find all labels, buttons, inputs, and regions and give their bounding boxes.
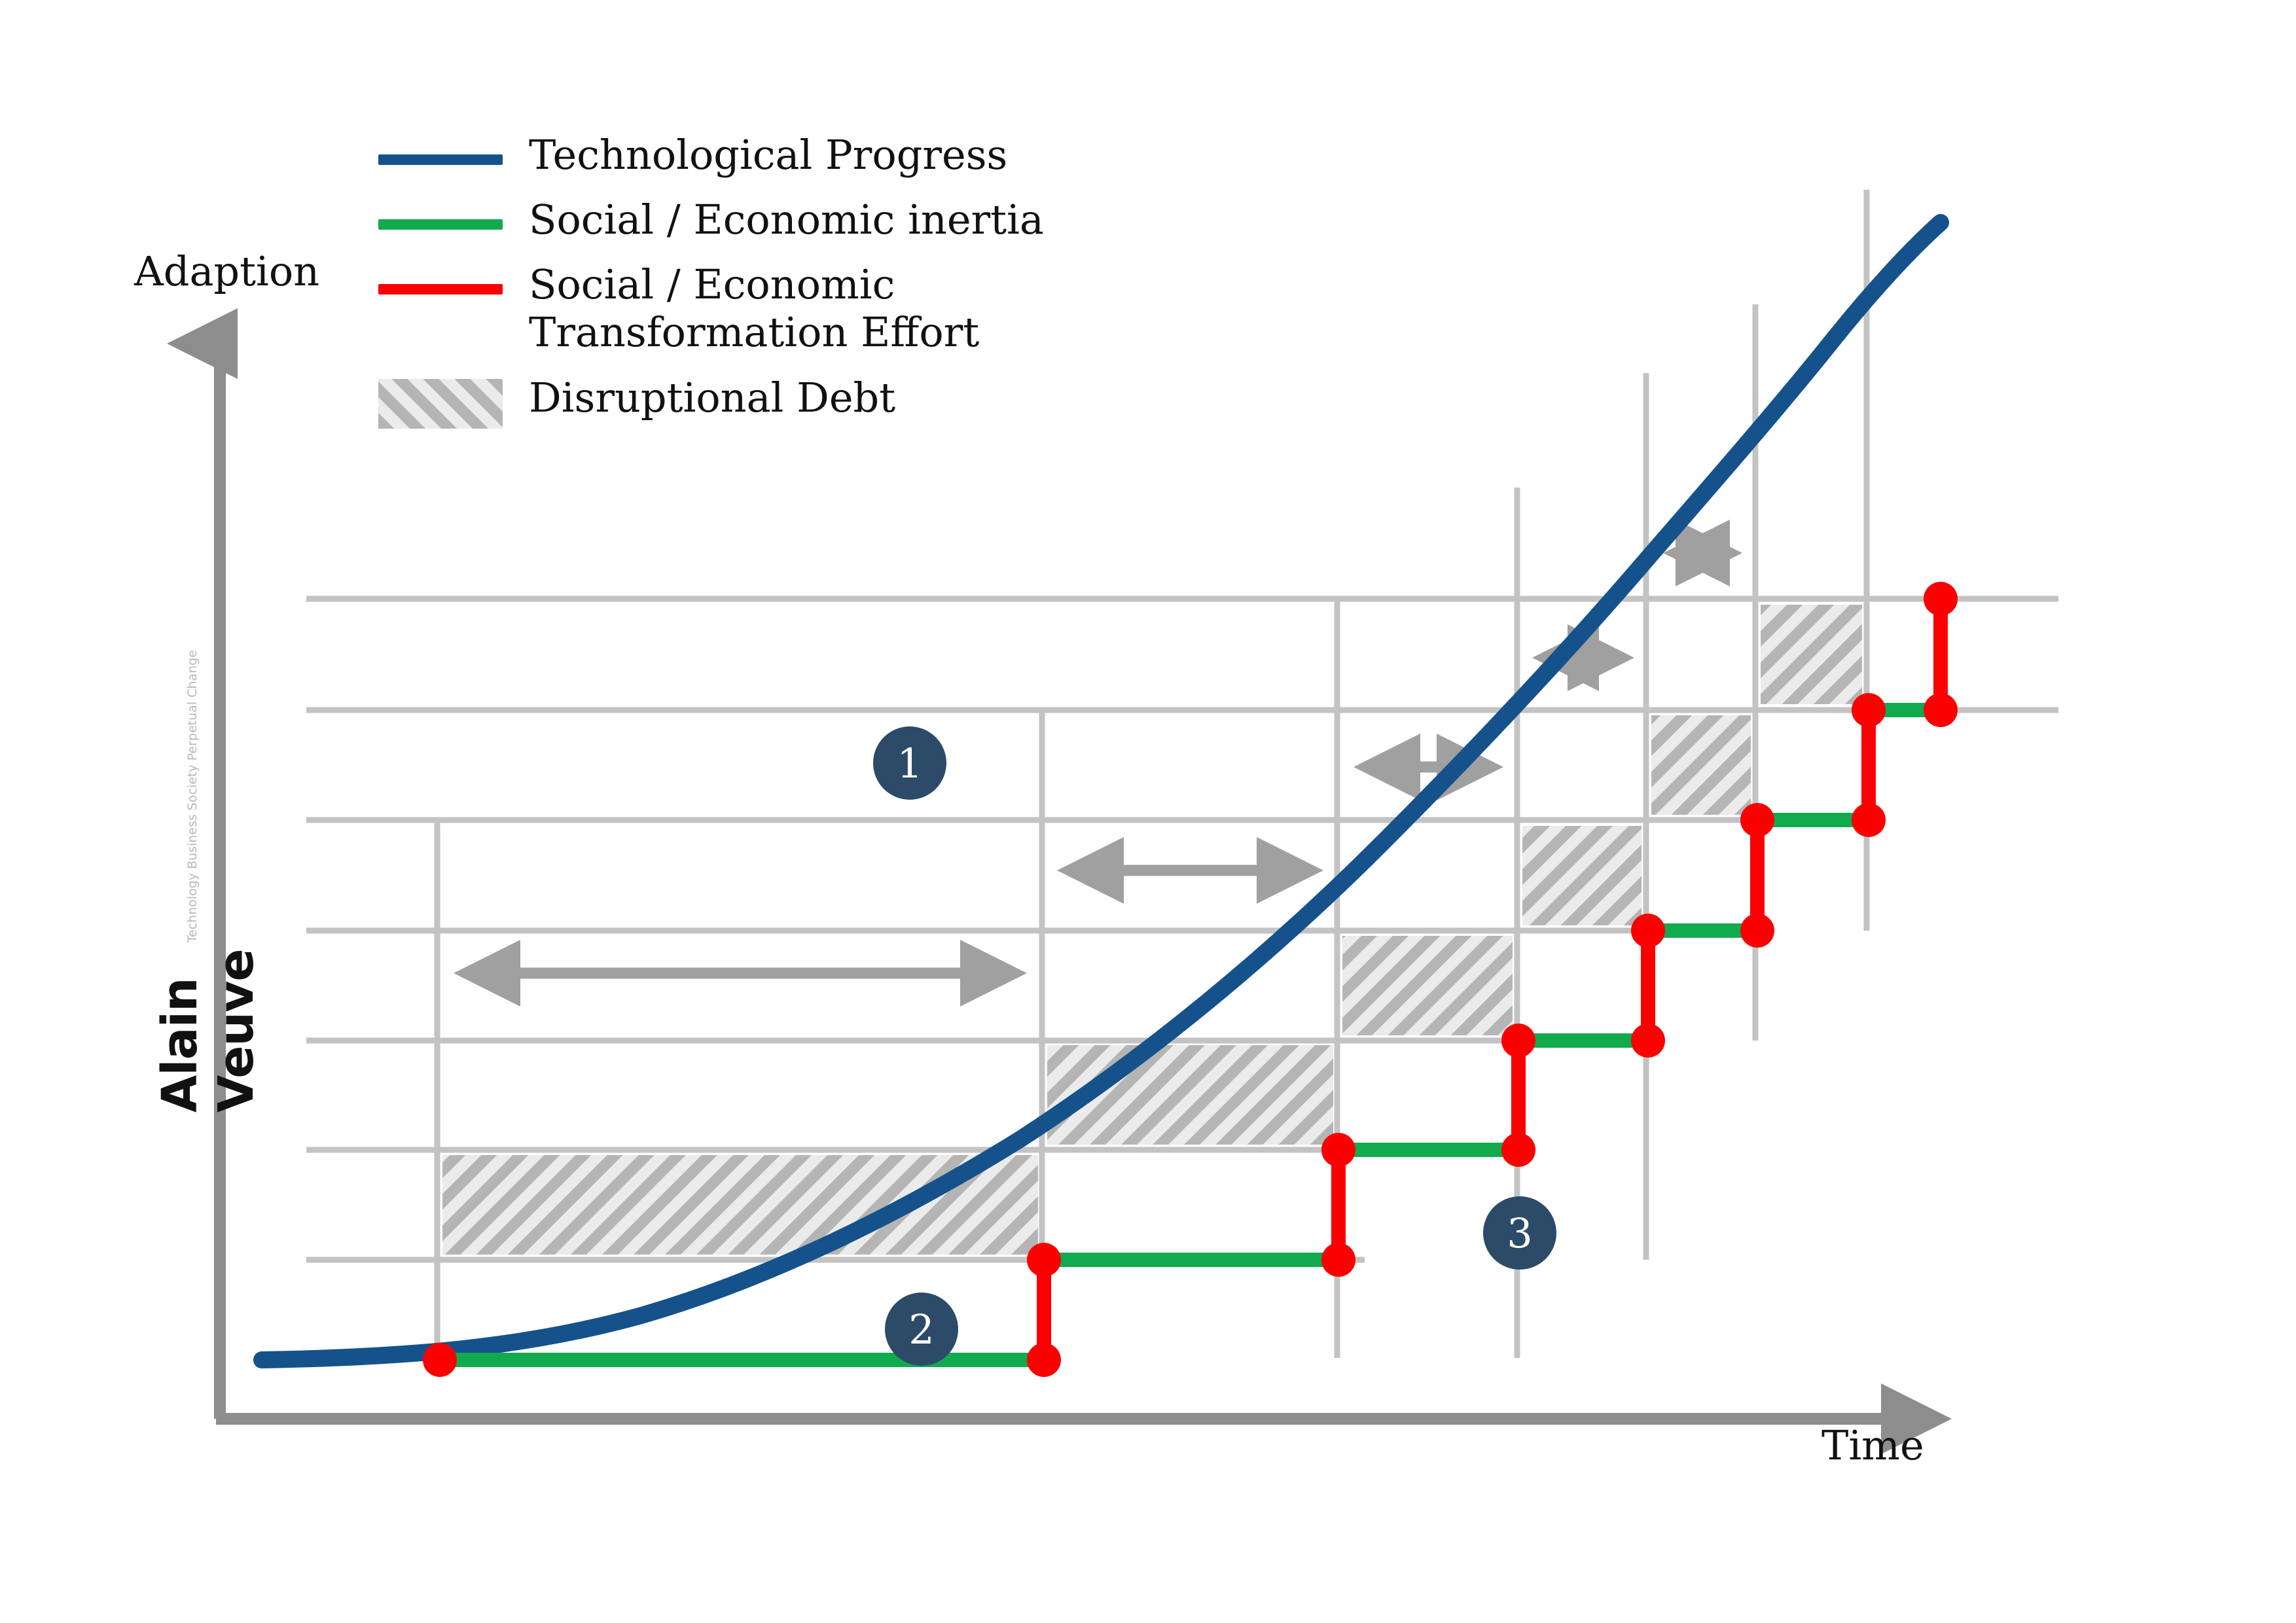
watermark: Alain Veuve Technology Business Society … bbox=[152, 805, 224, 1113]
legend: Technological Progress Social / Economic… bbox=[378, 131, 1044, 446]
legend-swatch-line bbox=[378, 154, 503, 165]
step-node bbox=[1027, 1343, 1061, 1377]
step-node bbox=[1631, 1024, 1665, 1058]
step-node bbox=[423, 1343, 457, 1377]
annotation-badge-3[interactable]: 3 bbox=[1483, 1196, 1556, 1270]
step-node bbox=[1321, 1133, 1355, 1167]
debt-box bbox=[1522, 826, 1641, 925]
legend-swatch-hatch bbox=[378, 379, 503, 429]
watermark-name: Alain Veuve bbox=[152, 949, 264, 1113]
step-node bbox=[1924, 582, 1958, 616]
debt-box bbox=[1761, 605, 1862, 704]
legend-item-social-economic-inertia[interactable]: Social / Economic inertia bbox=[378, 196, 1044, 243]
annotation-badge-2[interactable]: 2 bbox=[885, 1293, 958, 1366]
y-axis-title: Adaption bbox=[134, 247, 319, 295]
step-node bbox=[1740, 803, 1774, 837]
chart-svg bbox=[0, 0, 2296, 1623]
step-node bbox=[1740, 914, 1774, 948]
step-node bbox=[1501, 1133, 1535, 1167]
legend-item-technological-progress[interactable]: Technological Progress bbox=[378, 131, 1044, 179]
legend-swatch-line bbox=[378, 284, 503, 294]
step-node bbox=[1321, 1243, 1355, 1277]
legend-item-transformation-effort[interactable]: Social / Economic Transformation Effort bbox=[378, 260, 1044, 356]
legend-item-disruptional-debt[interactable]: Disruptional Debt bbox=[378, 374, 1044, 429]
legend-swatch-line bbox=[378, 219, 503, 230]
step-node bbox=[1027, 1243, 1061, 1277]
chart-canvas: Technological Progress Social / Economic… bbox=[0, 0, 2296, 1623]
legend-label: Social / Economic Transformation Effort bbox=[529, 260, 979, 356]
debt-box bbox=[442, 1155, 1038, 1255]
step-node bbox=[1501, 1024, 1535, 1058]
x-axis-title: Time bbox=[1821, 1421, 1924, 1469]
legend-label: Social / Economic inertia bbox=[529, 196, 1044, 243]
step-node bbox=[1924, 693, 1958, 727]
step-node bbox=[1852, 693, 1886, 727]
debt-box bbox=[1342, 936, 1513, 1035]
debt-box bbox=[1651, 715, 1751, 815]
annotation-badge-1[interactable]: 1 bbox=[873, 726, 946, 800]
step-node bbox=[1852, 803, 1886, 837]
step-node bbox=[1631, 914, 1665, 948]
legend-label: Technological Progress bbox=[529, 131, 1007, 179]
legend-label: Disruptional Debt bbox=[529, 374, 895, 421]
watermark-subtitle: Technology Business Society Perpetual Ch… bbox=[185, 650, 200, 942]
